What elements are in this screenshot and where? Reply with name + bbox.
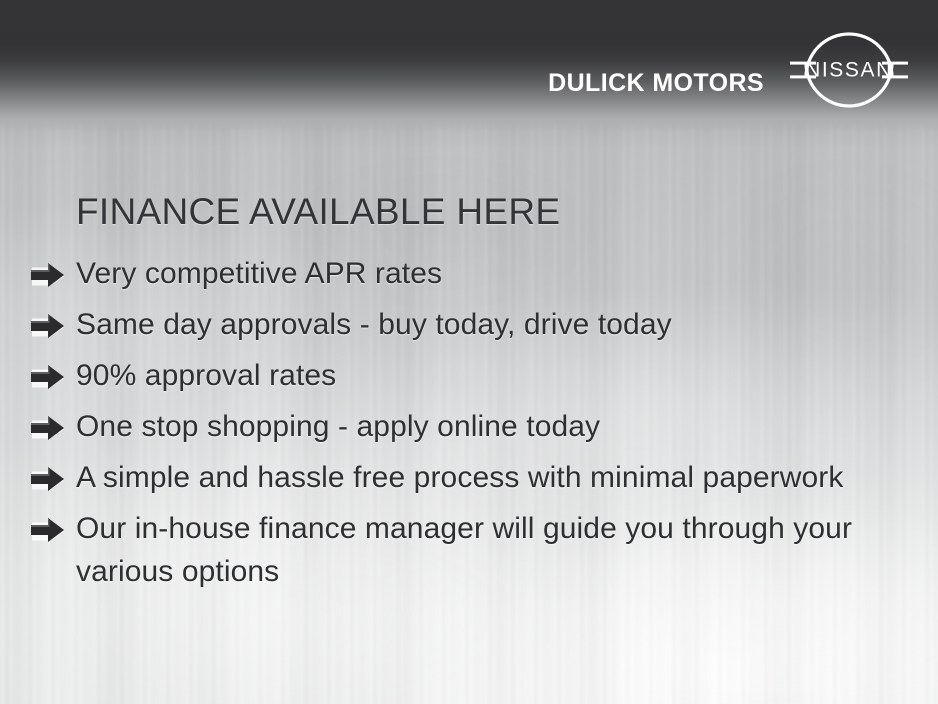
brand-row: DULICK MOTORS NISSAN	[548, 24, 912, 116]
dealer-name: DULICK MOTORS	[548, 69, 764, 98]
list-item-label: Very competitive APR rates	[76, 252, 442, 295]
list-item-label: Same day approvals - buy today, drive to…	[76, 303, 672, 346]
list-item: 90% approval rates	[30, 354, 914, 397]
list-item: One stop shopping - apply online today	[30, 405, 914, 448]
list-item: Very competitive APR rates	[30, 252, 914, 295]
list-item-label: One stop shopping - apply online today	[76, 405, 600, 448]
page-title: FINANCE AVAILABLE HERE	[76, 191, 560, 233]
list-item: A simple and hassle free process with mi…	[30, 456, 914, 499]
list-item: Our in-house finance manager will guide …	[30, 507, 914, 593]
slide-header: DULICK MOTORS NISSAN	[0, 0, 938, 132]
right-arrow-icon	[30, 363, 66, 390]
list-item-label: 90% approval rates	[76, 354, 336, 397]
right-arrow-icon	[30, 465, 66, 492]
nissan-logo: NISSAN	[786, 24, 912, 116]
list-item-label: Our in-house finance manager will guide …	[76, 507, 914, 593]
finance-slide: DULICK MOTORS NISSAN FINANCE AVAILABLE H…	[0, 0, 938, 704]
right-arrow-icon	[30, 261, 66, 288]
nissan-wordmark: NISSAN	[805, 59, 893, 82]
right-arrow-icon	[30, 516, 66, 543]
list-item-label: A simple and hassle free process with mi…	[76, 456, 844, 499]
right-arrow-icon	[30, 414, 66, 441]
finance-benefits-list: Very competitive APR rates Same day appr…	[30, 252, 914, 601]
list-item: Same day approvals - buy today, drive to…	[30, 303, 914, 346]
right-arrow-icon	[30, 312, 66, 339]
